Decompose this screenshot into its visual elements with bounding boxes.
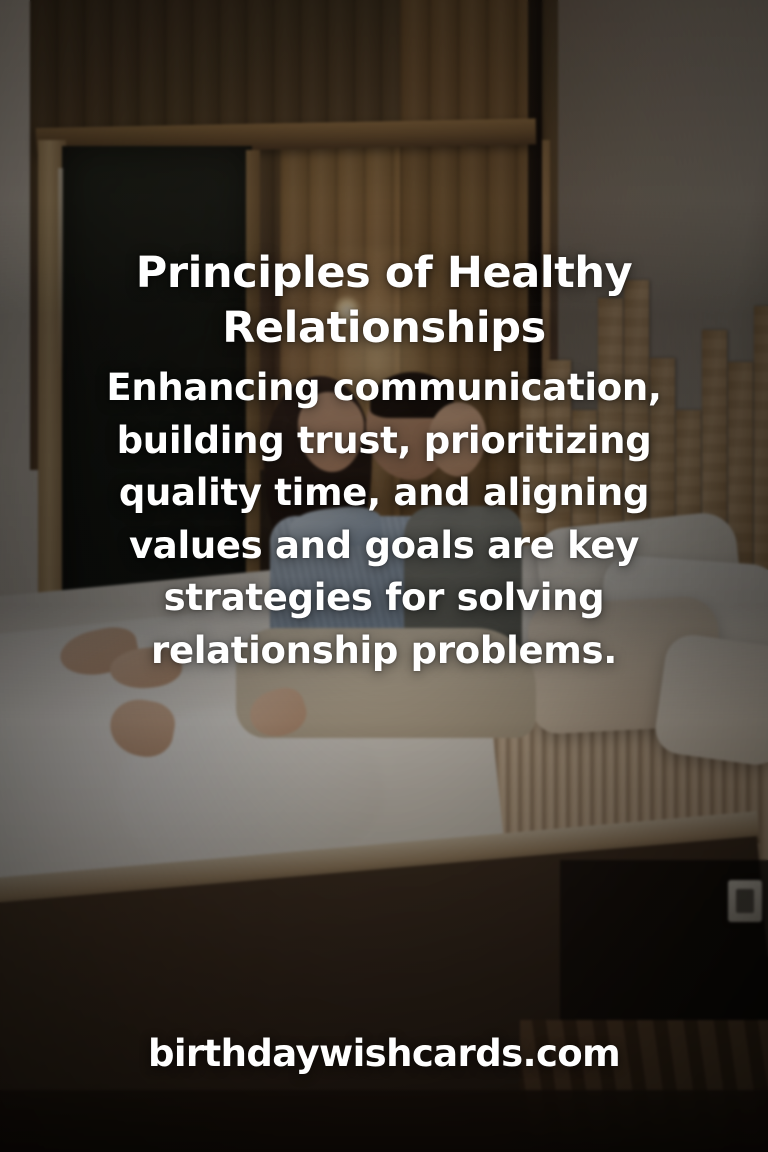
- site-watermark: birthdaywishcards.com: [0, 1032, 768, 1075]
- body-text: Enhancing communication, building trust,…: [64, 362, 704, 677]
- page-title: Principles of Healthy Relationships: [64, 246, 704, 356]
- social-quote-card: Principles of Healthy Relationships Enha…: [0, 0, 768, 1152]
- text-overlay: Principles of Healthy Relationships Enha…: [0, 0, 768, 1152]
